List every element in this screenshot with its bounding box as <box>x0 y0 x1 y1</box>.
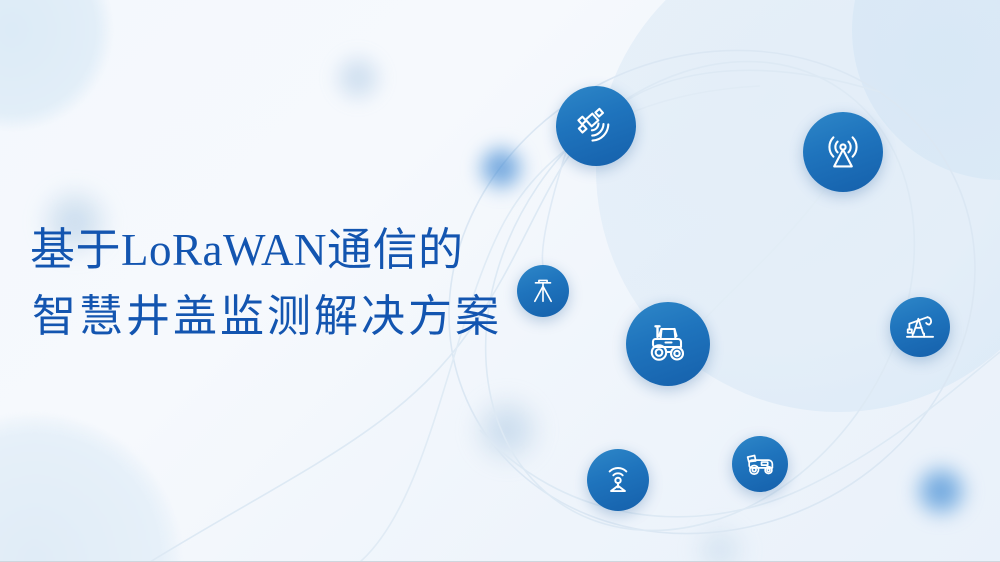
satellite-dish-icon-bubble[interactable] <box>556 86 636 166</box>
wireless-sensor-icon-bubble[interactable] <box>587 449 649 511</box>
satellite-dish-icon <box>574 104 618 148</box>
cover-slide: 基于LoRaWAN通信的 智慧井盖监测解决方案 <box>0 0 1000 562</box>
survey-tripod-icon <box>528 276 558 306</box>
corner-blob-bottom-left <box>0 415 180 562</box>
radio-tower-icon <box>821 130 865 174</box>
corner-blob-top-left <box>0 0 112 130</box>
wireless-sensor-icon <box>600 462 636 498</box>
harvester-vehicle-icon <box>743 447 777 481</box>
oil-pumpjack-icon-bubble[interactable] <box>890 297 950 357</box>
tractor-icon <box>644 320 692 368</box>
title-line-1: 基于LoRaWAN通信的 <box>30 228 502 273</box>
harvester-vehicle-icon-bubble[interactable] <box>732 436 788 492</box>
tractor-icon-bubble[interactable] <box>626 302 710 386</box>
survey-tripod-icon-bubble[interactable] <box>517 265 569 317</box>
soft-dot-1 <box>330 50 386 106</box>
soft-dot-6 <box>690 520 750 562</box>
soft-dot-4 <box>470 393 544 467</box>
soft-dot-5 <box>912 462 970 520</box>
slide-title: 基于LoRaWAN通信的 智慧井盖监测解决方案 <box>30 228 502 339</box>
title-line-2: 智慧井盖监测解决方案 <box>32 295 502 339</box>
soft-dot-2 <box>475 142 527 194</box>
radio-tower-icon-bubble[interactable] <box>803 112 883 192</box>
oil-pumpjack-icon <box>902 309 938 345</box>
